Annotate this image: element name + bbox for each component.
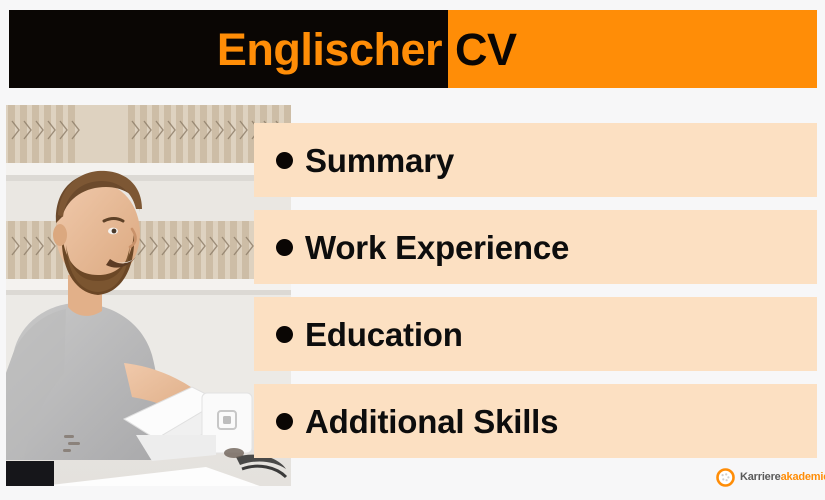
brand-logo-text: Karriereakademie.de — [740, 472, 825, 483]
list-item-education[interactable]: Education — [254, 297, 817, 371]
bullet-icon — [276, 413, 293, 430]
header-banner: Englischer CV — [9, 10, 817, 88]
brand-logo-text-part-one: Karriere — [740, 471, 781, 483]
page-title-part-one: Englischer — [217, 27, 448, 72]
list-item-label: Summary — [305, 144, 454, 177]
brand-logo[interactable]: Karriereakademie.de — [716, 468, 825, 487]
list-item-additional-skills[interactable]: Additional Skills — [254, 384, 817, 458]
brand-logo-text-part-two: akademie — [781, 471, 825, 483]
slide-canvas: Englischer CV — [0, 0, 825, 500]
page-title-part-two: CV — [448, 27, 517, 72]
photo-man-at-pos-terminal — [6, 105, 291, 486]
list-item-label: Education — [305, 318, 463, 351]
list-item-summary[interactable]: Summary — [254, 123, 817, 197]
karriereakademie-circle-icon — [716, 468, 735, 487]
list-item-label: Additional Skills — [305, 405, 558, 438]
bullet-icon — [276, 326, 293, 343]
bullet-icon — [276, 152, 293, 169]
list-item-work-experience[interactable]: Work Experience — [254, 210, 817, 284]
section-list: Summary Work Experience Education Additi… — [254, 123, 817, 458]
bullet-icon — [276, 239, 293, 256]
list-item-label: Work Experience — [305, 231, 569, 264]
header-left-panel: Englischer — [9, 10, 448, 88]
header-right-panel: CV — [448, 10, 817, 88]
